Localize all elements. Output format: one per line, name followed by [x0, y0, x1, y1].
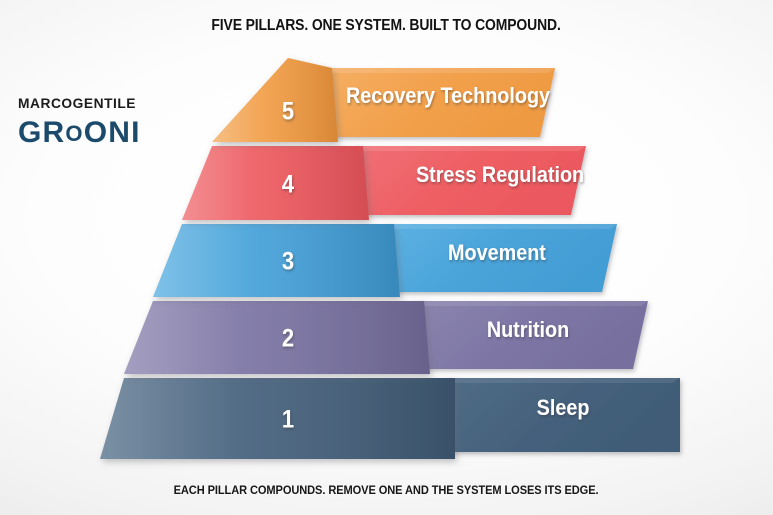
pyramid-level-3[interactable]: 3 Movement: [153, 224, 617, 297]
pyramid-chart: 1 Sleep 2 Nutrition 3 Movement 4: [0, 0, 773, 515]
grooni-wordmark-text: GROONI: [18, 116, 141, 149]
infographic-canvas: FIVE PILLARS. ONE SYSTEM. BUILT TO COMPO…: [0, 0, 773, 515]
level-5-label: Recovery Technology: [346, 84, 550, 108]
level-4-label: Stress Regulation: [416, 163, 584, 187]
level-4-rank: 4: [282, 170, 294, 198]
level-3-label: Movement: [448, 241, 546, 265]
pyramid-level-2[interactable]: 2 Nutrition: [124, 301, 648, 374]
brand-wordmark: GROONI: [18, 116, 178, 150]
pyramid-level-4[interactable]: 4 Stress Regulation: [182, 146, 586, 220]
level-3-rank: 3: [282, 247, 294, 275]
footer: EACH PILLAR COMPOUNDS. REMOVE ONE AND TH…: [0, 481, 773, 499]
level-5-front-shade: [212, 58, 338, 142]
level-2-slab-top-bevel: [417, 301, 648, 306]
level-2-rank: 2: [282, 324, 294, 352]
headline: FIVE PILLARS. ONE SYSTEM. BUILT TO COMPO…: [0, 17, 773, 35]
level-4-slab-top-bevel: [356, 146, 586, 151]
headline-text: FIVE PILLARS. ONE SYSTEM. BUILT TO COMPO…: [212, 17, 561, 35]
level-5-rank: 5: [282, 97, 294, 125]
brand-logo: MARCOGENTILE GROONI: [18, 96, 178, 150]
brand-name-top: MARCOGENTILE: [18, 96, 173, 112]
level-1-front-shade: [100, 378, 455, 459]
level-2-label: Nutrition: [487, 318, 569, 342]
level-5-slab-top-bevel: [325, 68, 555, 73]
level-4-front-shade: [182, 146, 369, 220]
pyramid-level-1[interactable]: 1 Sleep: [100, 378, 680, 459]
level-2-front-shade: [124, 301, 430, 374]
level-3-slab-top-bevel: [387, 224, 617, 229]
footer-text: EACH PILLAR COMPOUNDS. REMOVE ONE AND TH…: [174, 483, 599, 497]
level-1-slab-top-bevel: [448, 378, 680, 383]
grooni-wordmark-svg: GROONI: [18, 116, 178, 150]
level-1-label: Sleep: [537, 396, 590, 420]
level-3-front-shade: [153, 224, 400, 297]
level-1-rank: 1: [282, 405, 294, 433]
pyramid-level-5[interactable]: 5 Recovery Technology: [212, 58, 555, 142]
